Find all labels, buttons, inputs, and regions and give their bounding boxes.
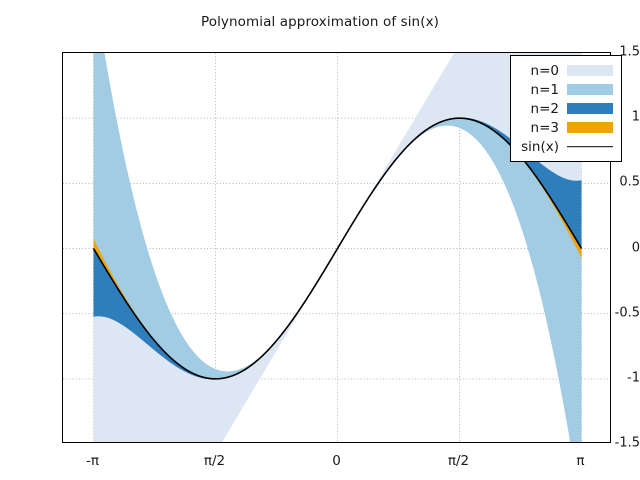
x-tick-label: 0 xyxy=(297,453,377,469)
legend: n=0n=1n=2n=3sin(x) xyxy=(510,55,622,162)
legend-item[interactable]: n=1 xyxy=(521,80,613,99)
legend-item-label: sin(x) xyxy=(521,139,559,155)
x-tick-label: π/2 xyxy=(175,453,255,469)
legend-item[interactable]: n=2 xyxy=(521,99,613,118)
legend-color-swatch xyxy=(567,103,613,114)
legend-item-label: n=2 xyxy=(531,101,559,117)
x-tick-label: π xyxy=(541,453,621,469)
legend-line-swatch xyxy=(567,141,613,152)
chart-figure: Polynomial approximation of sin(x) 1.510… xyxy=(0,0,640,480)
legend-item[interactable]: sin(x) xyxy=(521,137,613,156)
legend-color-swatch xyxy=(567,122,613,133)
x-tick-label: -π xyxy=(53,453,133,469)
legend-item[interactable]: n=3 xyxy=(521,118,613,137)
legend-color-swatch xyxy=(567,84,613,95)
legend-item-label: n=3 xyxy=(531,120,559,136)
legend-item-label: n=1 xyxy=(531,82,559,98)
chart-title: Polynomial approximation of sin(x) xyxy=(0,14,640,30)
x-tick-label: π/2 xyxy=(419,453,499,469)
legend-item[interactable]: n=0 xyxy=(521,61,613,80)
legend-color-swatch xyxy=(567,65,613,76)
legend-item-label: n=0 xyxy=(531,63,559,79)
